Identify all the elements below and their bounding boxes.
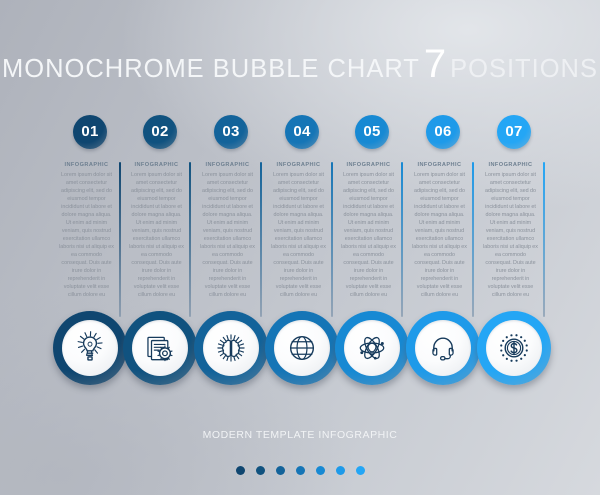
step-description-03: Lorem ipsum dolor sit amet consectetur a…	[200, 171, 255, 299]
pagination-dots[interactable]	[0, 466, 600, 475]
step-heading-06: INFOGRAPHIC	[412, 162, 467, 168]
column-divider-03	[260, 162, 262, 317]
bubble-07[interactable]	[477, 311, 551, 385]
step-heading-02: INFOGRAPHIC	[129, 162, 184, 168]
step-heading-07: INFOGRAPHIC	[483, 162, 538, 168]
bubble-05[interactable]	[335, 311, 409, 385]
page-title-highlight-number: 7	[420, 42, 450, 86]
bubble-03[interactable]	[194, 311, 268, 385]
step-description-01: Lorem ipsum dolor sit amet consectetur a…	[59, 171, 114, 299]
step-heading-03: INFOGRAPHIC	[200, 162, 255, 168]
headset-icon	[415, 320, 471, 376]
column-divider-02	[189, 162, 191, 317]
step-description-02: Lorem ipsum dolor sit amet consectetur a…	[129, 171, 184, 299]
step-body-07: INFOGRAPHICLorem ipsum dolor sit amet co…	[483, 162, 545, 299]
column-divider-07	[543, 162, 545, 317]
bubble-06[interactable]	[406, 311, 480, 385]
footer-caption: MODERN TEMPLATE INFOGRAPHIC	[0, 429, 600, 441]
step-description-04: Lorem ipsum dolor sit amet consectetur a…	[271, 171, 326, 299]
pagination-dot-6[interactable]	[336, 466, 345, 475]
step-heading-04: INFOGRAPHIC	[271, 162, 326, 168]
step-column-06: 06INFOGRAPHICLorem ipsum dolor sit amet …	[412, 115, 474, 299]
documents-gear-icon	[132, 320, 188, 376]
step-number-badge-06[interactable]: 06	[426, 115, 460, 149]
pagination-dot-4[interactable]	[296, 466, 305, 475]
column-divider-04	[331, 162, 333, 317]
step-column-05: 05INFOGRAPHICLorem ipsum dolor sit amet …	[341, 115, 403, 299]
column-divider-05	[401, 162, 403, 317]
pagination-dot-2[interactable]	[256, 466, 265, 475]
step-body-03: INFOGRAPHICLorem ipsum dolor sit amet co…	[200, 162, 262, 299]
step-body-05: INFOGRAPHICLorem ipsum dolor sit amet co…	[341, 162, 403, 299]
page-title: MONOCHROME BUBBLE CHART7POSITIONS	[0, 42, 600, 87]
step-column-07: 07INFOGRAPHICLorem ipsum dolor sit amet …	[483, 115, 545, 299]
step-column-02: 02INFOGRAPHICLorem ipsum dolor sit amet …	[129, 115, 191, 299]
bubble-01[interactable]	[53, 311, 127, 385]
page-title-main: MONOCHROME BUBBLE CHART	[2, 55, 420, 83]
step-number-badge-05[interactable]: 05	[355, 115, 389, 149]
pagination-dot-1[interactable]	[236, 466, 245, 475]
column-divider-01	[119, 162, 121, 317]
step-description-07: Lorem ipsum dolor sit amet consectetur a…	[483, 171, 538, 299]
pagination-dot-7[interactable]	[356, 466, 365, 475]
pagination-dot-3[interactable]	[276, 466, 285, 475]
step-number-badge-02[interactable]: 02	[143, 115, 177, 149]
step-body-04: INFOGRAPHICLorem ipsum dolor sit amet co…	[271, 162, 333, 299]
lightbulb-icon	[62, 320, 118, 376]
step-number-badge-04[interactable]: 04	[285, 115, 319, 149]
dollar-coin-icon	[486, 320, 542, 376]
infographic-canvas: MONOCHROME BUBBLE CHART7POSITIONS 01INFO…	[0, 0, 600, 495]
pagination-dot-5[interactable]	[316, 466, 325, 475]
step-body-02: INFOGRAPHICLorem ipsum dolor sit amet co…	[129, 162, 191, 299]
step-description-06: Lorem ipsum dolor sit amet consectetur a…	[412, 171, 467, 299]
bubble-02[interactable]	[123, 311, 197, 385]
step-column-03: 03INFOGRAPHICLorem ipsum dolor sit amet …	[200, 115, 262, 299]
step-number-badge-03[interactable]: 03	[214, 115, 248, 149]
page-title-tail: POSITIONS	[450, 55, 598, 83]
step-body-01: INFOGRAPHICLorem ipsum dolor sit amet co…	[59, 162, 121, 299]
step-column-01: 01INFOGRAPHICLorem ipsum dolor sit amet …	[59, 115, 121, 299]
step-number-badge-01[interactable]: 01	[73, 115, 107, 149]
step-column-04: 04INFOGRAPHICLorem ipsum dolor sit amet …	[271, 115, 333, 299]
step-heading-05: INFOGRAPHIC	[341, 162, 396, 168]
atom-icon	[344, 320, 400, 376]
globe-icon	[274, 320, 330, 376]
step-description-05: Lorem ipsum dolor sit amet consectetur a…	[341, 171, 396, 299]
column-divider-06	[472, 162, 474, 317]
step-number-badge-07[interactable]: 07	[497, 115, 531, 149]
step-heading-01: INFOGRAPHIC	[59, 162, 114, 168]
brain-icon	[203, 320, 259, 376]
step-body-06: INFOGRAPHICLorem ipsum dolor sit amet co…	[412, 162, 474, 299]
bubble-04[interactable]	[265, 311, 339, 385]
